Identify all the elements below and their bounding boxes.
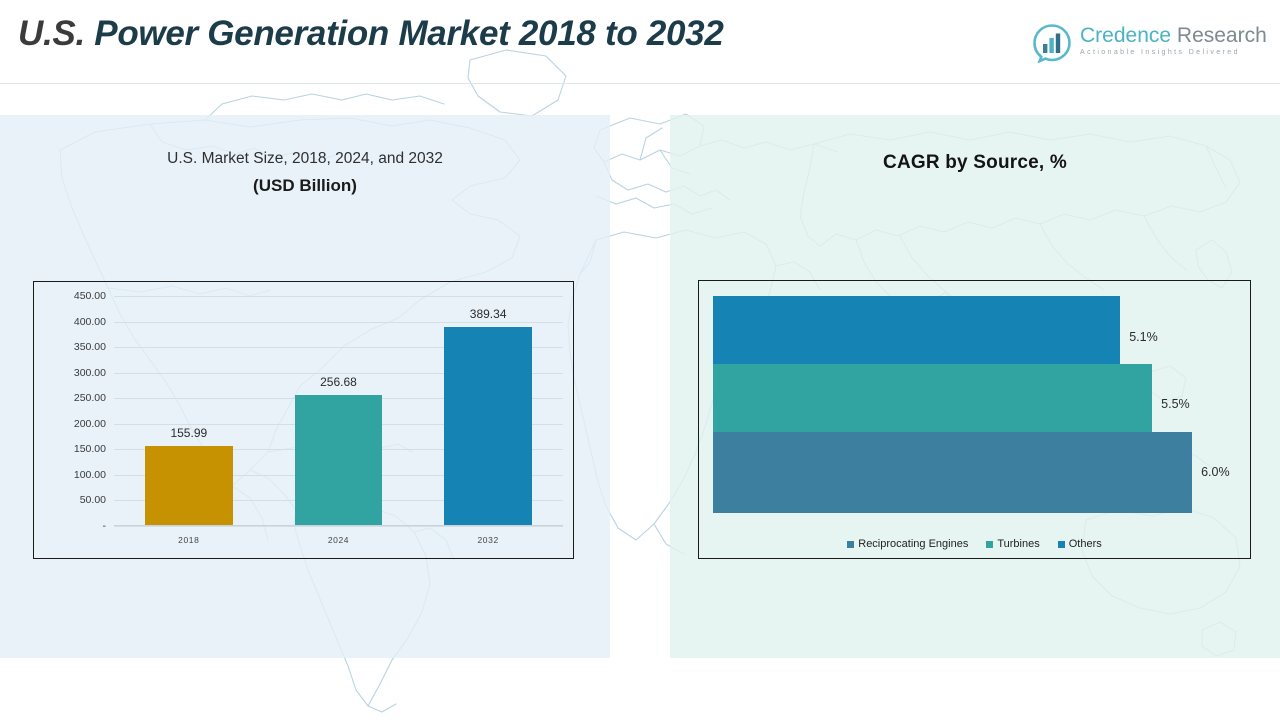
page-title-lead: U.S. xyxy=(18,14,85,53)
page-title: U.S. Power Generation Market 2018 to 203… xyxy=(18,14,724,54)
x-axis-line xyxy=(114,525,563,526)
gridline xyxy=(114,526,563,527)
y-axis-tick-label: 400.00 xyxy=(74,316,106,328)
y-axis-tick-label: - xyxy=(103,520,107,532)
x-axis-tick-label: 2018 xyxy=(178,535,199,545)
y-axis-tick-label: 50.00 xyxy=(80,494,106,506)
x-axis-tick-label: 2024 xyxy=(328,535,349,545)
header-divider xyxy=(0,83,1280,84)
bar-column: 389.342032 xyxy=(444,296,532,526)
y-axis-tick-label: 150.00 xyxy=(74,443,106,455)
infographic-canvas: U.S. Power Generation Market 2018 to 203… xyxy=(0,0,1280,720)
cagr-legend: Reciprocating EnginesTurbinesOthers xyxy=(699,538,1250,550)
legend-swatch-icon xyxy=(986,541,993,548)
bar-column: 256.682024 xyxy=(295,296,383,526)
cagr-plot-area: 5.1%5.5%6.0% xyxy=(713,303,1240,506)
legend-item[interactable]: Reciprocating Engines xyxy=(847,538,968,550)
bar-row: 6.0% xyxy=(713,432,1240,513)
logo-name-credence: Credence xyxy=(1080,24,1171,47)
legend-label: Reciprocating Engines xyxy=(858,538,968,550)
bar-value-label: 155.99 xyxy=(170,426,207,440)
y-axis-tick-label: 350.00 xyxy=(74,341,106,353)
legend-label: Others xyxy=(1069,538,1102,550)
left-chart-unit-label: (USD Billion) xyxy=(0,176,610,196)
bar-chart-bubble-icon xyxy=(1032,23,1072,63)
y-axis-tick-label: 250.00 xyxy=(74,392,106,404)
right-chart-title: CAGR by Source, % xyxy=(670,152,1280,174)
bar-column: 155.992018 xyxy=(145,296,233,526)
left-chart-subtitle: U.S. Market Size, 2018, 2024, and 2032 xyxy=(0,150,610,168)
legend-item[interactable]: Turbines xyxy=(986,538,1039,550)
bar-reciprocating-engines xyxy=(713,432,1192,513)
legend-swatch-icon xyxy=(1058,541,1065,548)
bar-2024 xyxy=(295,395,383,526)
logo-tagline: Actionable Insights Delivered xyxy=(1080,49,1260,56)
bar-value-label: 256.68 xyxy=(320,375,357,389)
brand-logo[interactable]: Credence Research Actionable Insights De… xyxy=(1032,22,1256,66)
bar-value-label: 5.5% xyxy=(1161,397,1190,411)
legend-label: Turbines xyxy=(997,538,1039,550)
bar-value-label: 389.34 xyxy=(470,307,507,321)
logo-name: Credence Research xyxy=(1080,24,1260,48)
legend-item[interactable]: Others xyxy=(1058,538,1102,550)
bar-2032 xyxy=(444,327,532,526)
y-axis-tick-label: 200.00 xyxy=(74,418,106,430)
y-axis-tick-label: 100.00 xyxy=(74,469,106,481)
bar-value-label: 5.1% xyxy=(1129,330,1158,344)
logo-name-research: Research xyxy=(1171,24,1267,47)
market-size-plot-area: 450.00400.00350.00300.00250.00200.00150.… xyxy=(114,296,563,526)
y-axis-tick-label: 450.00 xyxy=(74,290,106,302)
bar-value-label: 6.0% xyxy=(1201,465,1230,479)
market-size-bar-chart: 450.00400.00350.00300.00250.00200.00150.… xyxy=(33,281,574,559)
logo-wordmark: Credence Research Actionable Insights De… xyxy=(1080,24,1260,56)
x-axis-tick-label: 2032 xyxy=(477,535,498,545)
y-axis-tick-label: 300.00 xyxy=(74,367,106,379)
page-title-rest: Power Generation Market 2018 to 2032 xyxy=(85,14,724,53)
bar-2018 xyxy=(145,446,233,526)
legend-swatch-icon xyxy=(847,541,854,548)
cagr-by-source-bar-chart: 5.1%5.5%6.0% Reciprocating EnginesTurbin… xyxy=(698,280,1251,559)
